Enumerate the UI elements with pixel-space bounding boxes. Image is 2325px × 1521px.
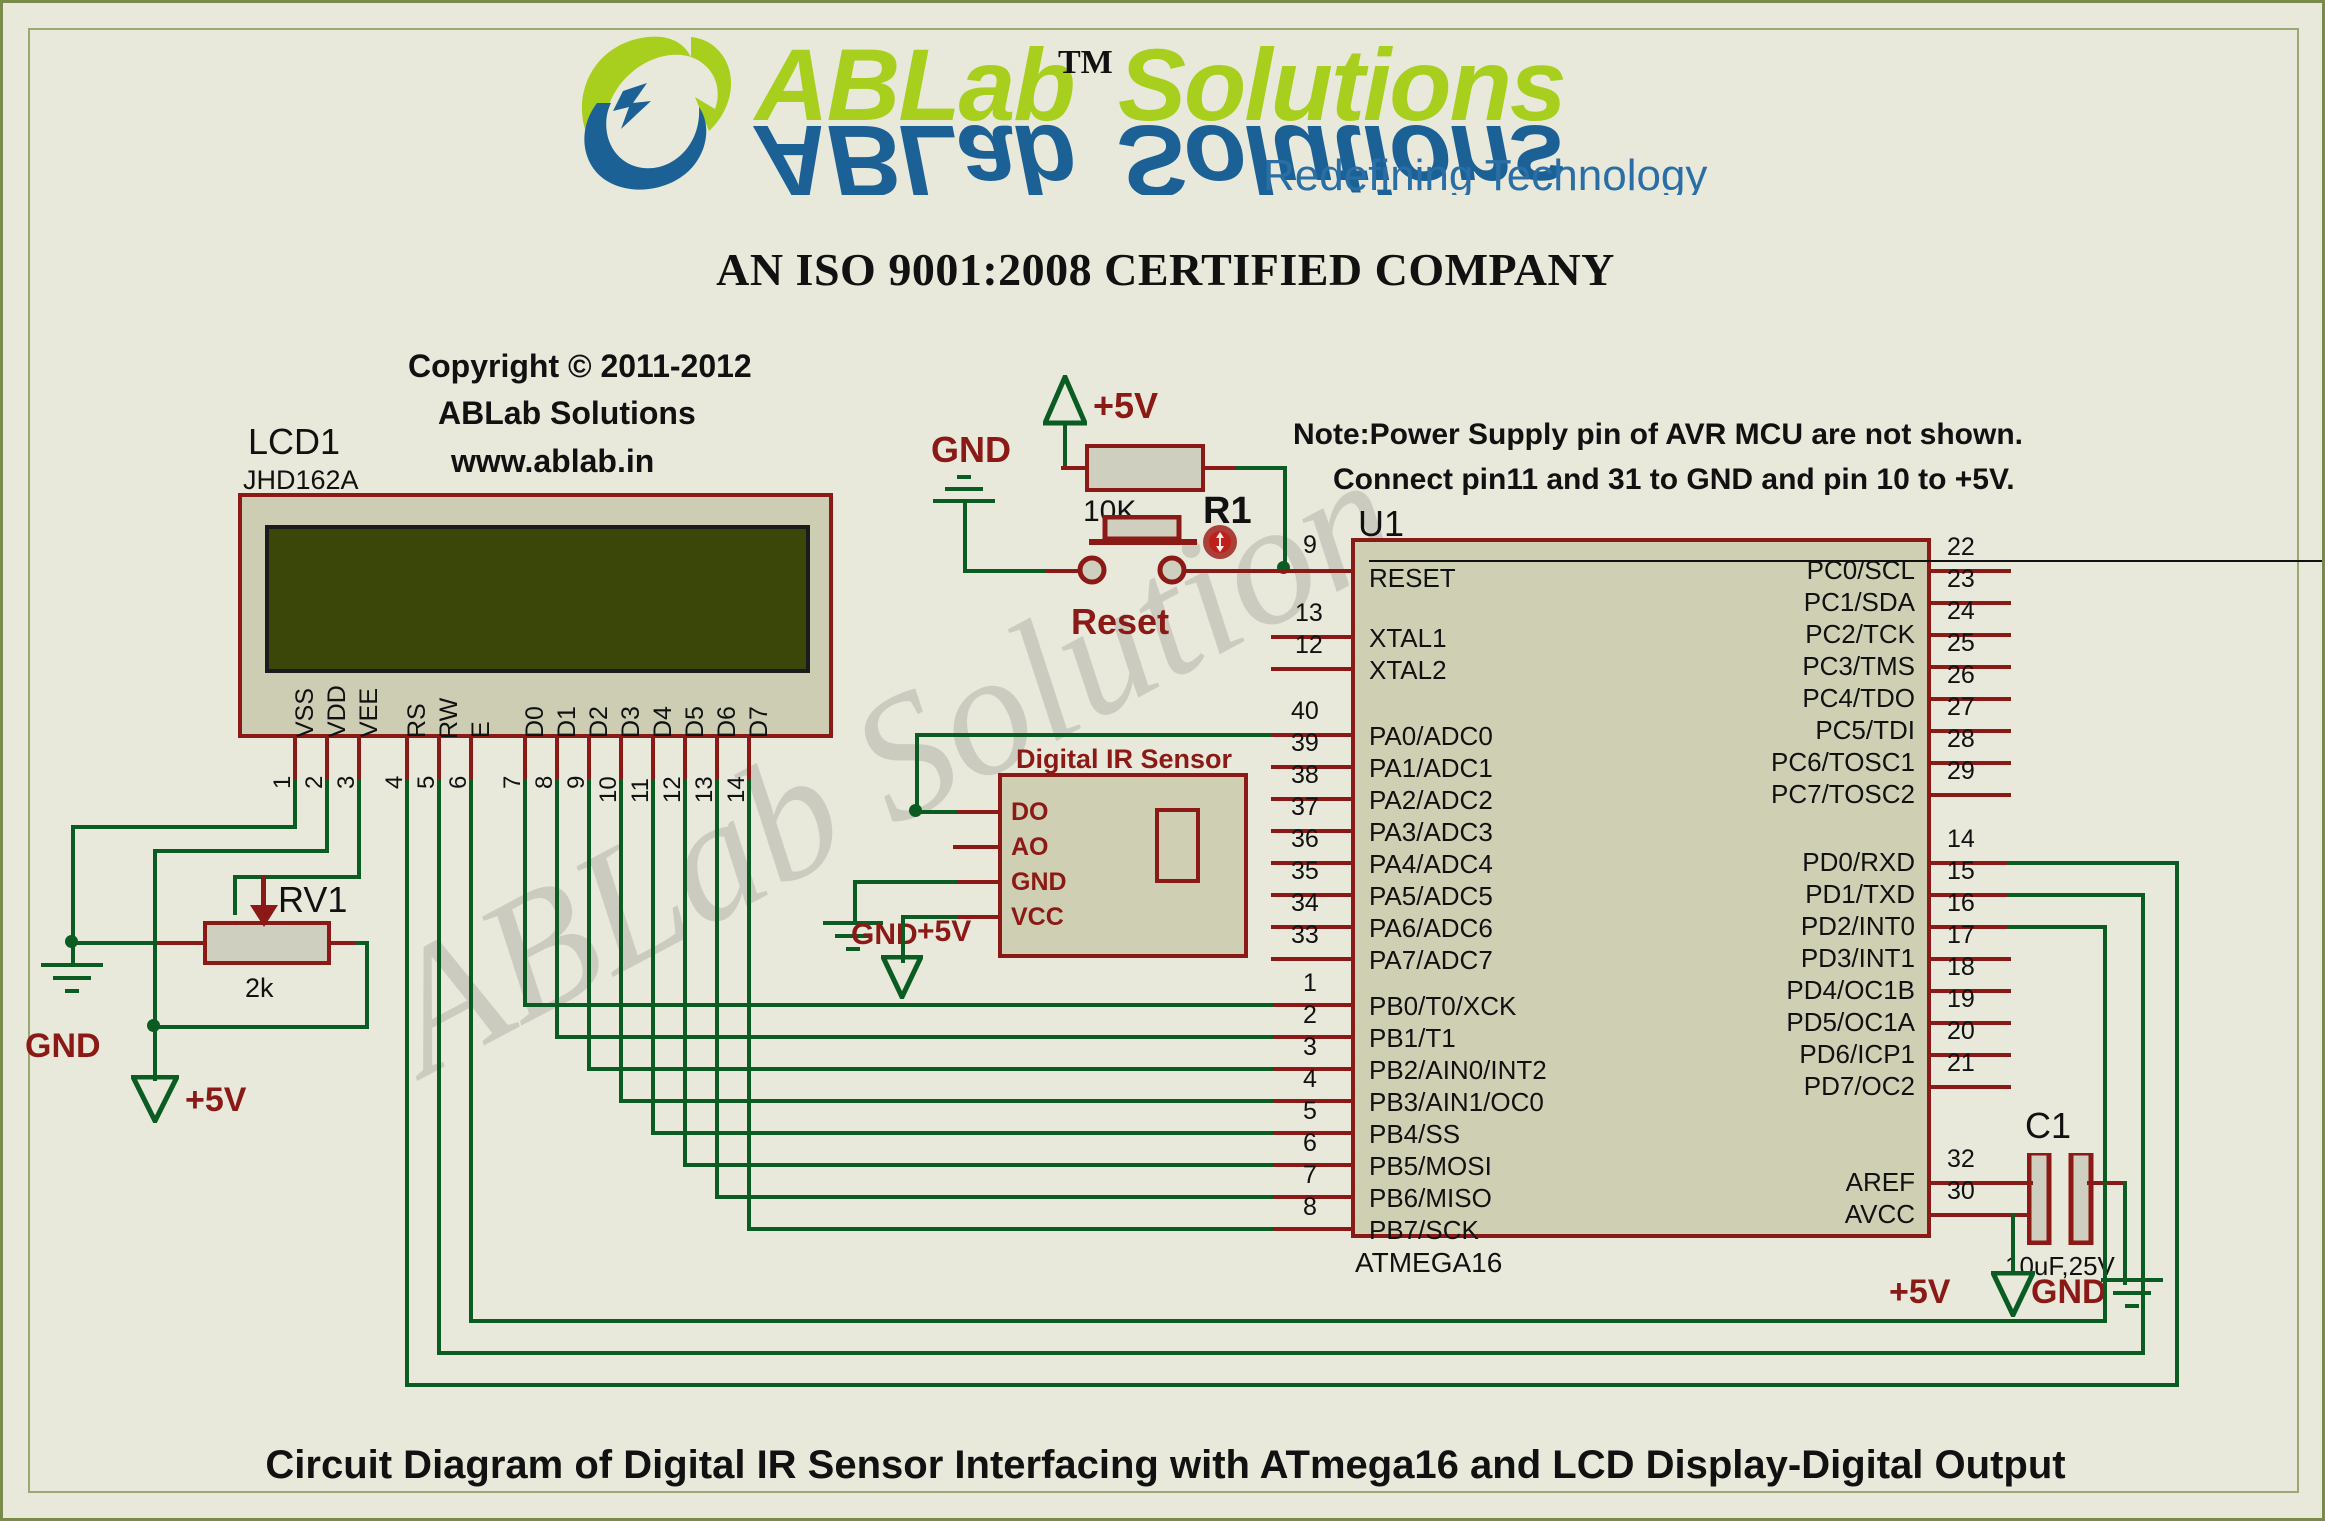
mcu-pin-line <box>1271 1227 1355 1231</box>
mcu-pin-number: 23 <box>1947 565 1975 594</box>
mcu-pin-number: 37 <box>1291 793 1319 822</box>
mcu-pin-number: 26 <box>1947 661 1975 690</box>
mcu-pin-number: 14 <box>1947 825 1975 854</box>
lcd-part-number: JHD162A <box>243 465 359 496</box>
svg-text:ABLab: ABLab <box>752 104 1074 195</box>
wire-gnd-reset-right <box>963 569 1049 573</box>
wire-vdd <box>325 779 329 853</box>
mcu-pin-label-pc0: PC0/SCL <box>1703 555 1915 586</box>
wire-lcd-rs-right-v <box>2175 861 2179 1387</box>
mcu-pin-number: 36 <box>1291 825 1319 854</box>
lcd-pin-label-d0: D0 <box>521 668 550 738</box>
mcu-pin-label-pc3: PC3/TMS <box>1703 651 1915 682</box>
wire-vdd-h <box>153 849 329 853</box>
lcd-pin-label-rs: RS <box>403 663 432 738</box>
mcu-pin-number: 18 <box>1947 953 1975 982</box>
mcu-pin-label-pd0: PD0/RXD <box>1703 847 1915 878</box>
mcu-pin-number: 4 <box>1303 1065 1317 1094</box>
ir-pin-label-do: DO <box>1011 798 1049 827</box>
mcu-pin-label-pa0: PA0/ADC0 <box>1369 721 1493 752</box>
wire-5v-down <box>153 1025 157 1081</box>
mcu-pin-label-pb6: PB6/MISO <box>1369 1183 1492 1214</box>
mcu-pin-label-pb0: PB0/T0/XCK <box>1369 991 1516 1022</box>
mcu-pin-number: 39 <box>1291 729 1319 758</box>
reset-button-actuator[interactable] <box>1089 515 1201 556</box>
mcu-pin-number: 1 <box>1303 969 1317 998</box>
mcu-pin-line <box>1927 1213 2011 1217</box>
circuit-diagram-page: ABLab ABLab TM Solutions Solutions Redef… <box>0 0 2325 1521</box>
mcu-pin-number: 40 <box>1291 697 1319 726</box>
wire-lcd-e-right-v <box>2103 925 2107 1323</box>
wire-5v-reset <box>1063 423 1067 469</box>
mcu-pin-number: 38 <box>1291 761 1319 790</box>
wire-ir-do-v <box>915 733 919 813</box>
mcu-pin-label-xtal1: XTAL1 <box>1369 623 1447 654</box>
wire-vee-v <box>233 875 237 915</box>
wire-lcd-d1-v <box>555 779 559 1039</box>
lcd-pin-label-d5: D5 <box>681 668 710 738</box>
ir-pin-stub-gnd <box>953 880 1001 884</box>
plus5v-label-c1: +5V <box>1889 1273 1950 1312</box>
mcu-pin-number: 6 <box>1303 1129 1317 1158</box>
mcu-pin-number: 8 <box>1303 1193 1317 1222</box>
c1-capacitor-body <box>2027 1153 2097 1250</box>
mcu-pin-label-pc4: PC4/TDO <box>1703 683 1915 714</box>
mcu-pin-label-pb1: PB1/T1 <box>1369 1023 1456 1054</box>
junction-node <box>65 935 78 948</box>
diagram-caption: Circuit Diagram of Digital IR Sensor Int… <box>3 1443 2325 1488</box>
wire-lcd-rw-v <box>437 779 441 1355</box>
mcu-part-number: ATMEGA16 <box>1355 1247 1502 1279</box>
wire-vee <box>357 779 361 879</box>
mcu-pin-number: 12 <box>1295 631 1323 660</box>
mcu-pin-number: 16 <box>1947 889 1975 918</box>
lcd-pin-label-d6: D6 <box>713 668 742 738</box>
wire-lcd-d5-v <box>683 779 687 1167</box>
mcu-pin-number: 15 <box>1947 857 1975 886</box>
wire-lcd-d2-v <box>587 779 591 1071</box>
mcu-pin-number: 20 <box>1947 1017 1975 1046</box>
wire-rv1-left-gnd <box>71 941 157 945</box>
mcu-pin-line <box>1927 793 2011 797</box>
lcd-pin-label-vdd: VDD <box>323 648 352 738</box>
wire-lcd-d7-v <box>747 779 751 1231</box>
wire-lcd-rw-right-v <box>2141 893 2145 1355</box>
mcu-pin-number: 32 <box>1947 1145 1975 1174</box>
junction-node-ir-do <box>909 804 922 817</box>
wire-lcd-rs-v <box>405 779 409 1387</box>
logo-tagline: Redefining Technology <box>1263 151 1707 195</box>
wire-ir-gnd-h <box>853 880 957 884</box>
mcu-pin-number: 24 <box>1947 597 1975 626</box>
mcu-pin-label-pc6: PC6/TOSC1 <box>1683 747 1915 778</box>
mcu-pin-label-pa5: PA5/ADC5 <box>1369 881 1493 912</box>
wire-btn-left <box>1045 569 1081 573</box>
mcu-pin-line <box>1271 667 1355 671</box>
mcu-pin-label-pc1: PC1/SDA <box>1703 587 1915 618</box>
gnd-label-c1: GND <box>2031 1273 2107 1312</box>
mcu-pin-label-pa6: PA6/ADC6 <box>1369 913 1493 944</box>
mcu-pin-label-pd6: PD6/ICP1 <box>1693 1039 1915 1070</box>
copyright-line-1: Copyright © 2011-2012 <box>408 348 752 385</box>
wire-avcc-down <box>2011 1213 2015 1275</box>
lcd-reference: LCD1 <box>248 421 340 463</box>
logo-tm-mark: TM <box>1058 44 1113 81</box>
lcd-pin-label-d3: D3 <box>617 668 646 738</box>
reset-button-terminal-left[interactable] <box>1077 555 1107 590</box>
wire-lcd-d4-h <box>651 1131 1273 1135</box>
mcu-pin-number: 2 <box>1303 1001 1317 1030</box>
ir-pin-label-ao: AO <box>1011 833 1049 862</box>
gnd-label-ir: GND <box>851 918 918 952</box>
mcu-pin-label-pc5: PC5/TDI <box>1703 715 1915 746</box>
mcu-pin-number: 21 <box>1947 1049 1975 1078</box>
wire-lcd-d4-v <box>651 779 655 1135</box>
lcd-pin-label-vee: VEE <box>355 648 384 738</box>
mcu-pin-number: 34 <box>1291 889 1319 918</box>
mcu-pin-label-pa3: PA3/ADC3 <box>1369 817 1493 848</box>
wire-r1-to-node <box>1235 466 1287 470</box>
lcd-pin-label-e: E <box>467 693 496 738</box>
wire-rv1-down <box>365 941 369 1029</box>
plus5v-label-ir: +5V <box>917 915 971 949</box>
plus5v-label-rv1: +5V <box>185 1081 246 1120</box>
mcu-pin-label-pd4: PD4/OC1B <box>1693 975 1915 1006</box>
mcu-pin-label-pb5: PB5/MOSI <box>1369 1151 1492 1182</box>
plus5v-symbol-c1 <box>1991 1271 2035 1322</box>
wire-lcd-d5-h <box>683 1163 1273 1167</box>
wire-lcd-d0-h <box>523 1003 1273 1007</box>
logo-swirl-icon <box>582 37 731 190</box>
plus5v-symbol-rv1 <box>131 1075 179 1128</box>
wire-c1-right <box>2087 1181 2127 1185</box>
wire-lcd-rw-to-pd1 <box>2007 893 2145 897</box>
wire-5v-bus <box>153 1025 369 1029</box>
wire-lcd-d1-h <box>555 1035 1273 1039</box>
ir-pin-label-vcc: VCC <box>1011 903 1064 932</box>
r1-resistor-body <box>1085 444 1205 492</box>
mcu-pin-label-pd1: PD1/TXD <box>1703 879 1915 910</box>
wire-lcd-e-h <box>469 1319 2107 1323</box>
wire-lcd-d6-v <box>715 779 719 1199</box>
wire-lcd-rs-to-pd0 <box>2007 861 2179 865</box>
ir-sensor-title: Digital IR Sensor <box>1016 744 1232 775</box>
mcu-pin-label-pd7: PD7/OC2 <box>1693 1071 1915 1102</box>
mcu-pin-number: 35 <box>1291 857 1319 886</box>
wire-c1-left <box>2009 1181 2033 1185</box>
mcu-pin-label-pa1: PA1/ADC1 <box>1369 753 1493 784</box>
mcu-pin-label-pc7: PC7/TOSC2 <box>1683 779 1915 810</box>
mcu-pin-number: 28 <box>1947 725 1975 754</box>
mcu-pin-label-pa7: PA7/ADC7 <box>1369 945 1493 976</box>
wire-lcd-d3-v <box>619 779 623 1103</box>
iso-certification-line: AN ISO 9001:2008 CERTIFIED COMPANY <box>3 243 2325 296</box>
lcd-pin-label-rw: RW <box>435 661 464 739</box>
mcu-pin-label-pb2: PB2/AIN0/INT2 <box>1369 1055 1547 1086</box>
mcu-pin-number: 9 <box>1303 531 1317 560</box>
mcu-pin-line <box>1271 569 1355 573</box>
lcd-pin-label-d1: D1 <box>553 668 582 738</box>
ir-sensor-element-icon <box>1155 808 1200 883</box>
mcu-pin-line <box>1271 957 1355 961</box>
mcu-pin-number: 17 <box>1947 921 1975 950</box>
wire-vdd-v <box>153 849 157 1029</box>
ir-pin-stub-ao <box>953 845 1001 849</box>
lcd-pin-label-d7: D7 <box>745 668 774 738</box>
mcu-pin-label-pd3: PD3/INT1 <box>1703 943 1915 974</box>
wire-vss-gnd <box>71 825 297 829</box>
mcu-pin-label-pa4: PA4/ADC4 <box>1369 849 1493 880</box>
plus5v-label-reset: +5V <box>1093 385 1158 427</box>
mcu-pin-label-pb4: PB4/SS <box>1369 1119 1460 1150</box>
wire-lcd-e-to-pd2 <box>2007 925 2107 929</box>
reset-button-press-indicator-icon[interactable] <box>1201 523 1239 566</box>
copyright-line-2: ABLab Solutions <box>438 395 696 432</box>
mcu-pin-number: 22 <box>1947 533 1975 562</box>
wire-lcd-rw-h <box>437 1351 2145 1355</box>
wire-vss <box>293 779 297 829</box>
mcu-pin-label-avcc: AVCC <box>1703 1199 1915 1230</box>
ir-pin-stub-do <box>953 810 1001 814</box>
wire-rv1-left <box>153 941 207 945</box>
wire-lcd-d6-h <box>715 1195 1273 1199</box>
wire-c1-right-down <box>2123 1181 2127 1285</box>
mcu-pin-label-pd5: PD5/OC1A <box>1693 1007 1915 1038</box>
gnd-symbol-c1 <box>2101 1278 2165 1329</box>
mcu-pin-label-pa2: PA2/ADC2 <box>1369 785 1493 816</box>
note-line-2: Connect pin11 and 31 to GND and pin 10 t… <box>1333 463 2015 497</box>
mcu-pin-line <box>1927 1085 2011 1089</box>
wire-gnd-reset-down <box>963 501 967 573</box>
lcd-pin-label-d4: D4 <box>649 668 678 738</box>
wire-lcd-e-v <box>469 779 473 1323</box>
reset-button-terminal-right[interactable] <box>1157 555 1187 590</box>
reset-label: Reset <box>1071 601 1169 643</box>
plus5v-symbol-ir <box>881 955 923 1004</box>
wire-lcd-d7-h <box>747 1227 1273 1231</box>
mcu-pin-label-aref: AREF <box>1703 1167 1915 1198</box>
mcu-pin-label-pb7: PB7/SCK <box>1369 1215 1479 1246</box>
wire-lcd-d2-h <box>587 1067 1273 1071</box>
gnd-symbol-lcd <box>41 963 105 1014</box>
mcu-pin-label-pb3: PB3/AIN1/OC0 <box>1369 1087 1544 1118</box>
mcu-pin-number: 29 <box>1947 757 1975 786</box>
wire-reset-vertical <box>1283 466 1287 571</box>
rv1-value: 2k <box>245 973 274 1004</box>
lcd-pin-label-vss: VSS <box>291 648 320 738</box>
c1-reference: C1 <box>2025 1105 2071 1147</box>
wire-lcd-rs-h <box>405 1383 2179 1387</box>
mcu-pin-label-xtal2: XTAL2 <box>1369 655 1447 686</box>
mcu-pin-number: 13 <box>1295 599 1323 628</box>
copyright-line-3: www.ablab.in <box>451 443 654 480</box>
mcu-pin-number: 19 <box>1947 985 1975 1014</box>
ir-pin-label-gnd: GND <box>1011 868 1067 897</box>
mcu-pin-number: 27 <box>1947 693 1975 722</box>
mcu-pin-number: 3 <box>1303 1033 1317 1062</box>
mcu-pin-number: 7 <box>1303 1161 1317 1190</box>
mcu-pin-number: 33 <box>1291 921 1319 950</box>
mcu-pin-number: 25 <box>1947 629 1975 658</box>
wire-r1-right <box>1203 466 1239 470</box>
mcu-pin-label-pd2: PD2/INT0 <box>1703 911 1915 942</box>
wire-btn-right <box>1185 569 1285 573</box>
gnd-label-reset: GND <box>931 429 1011 471</box>
ablab-logo: ABLab ABLab TM Solutions Solutions Redef… <box>563 25 1853 195</box>
mcu-pin-number: 5 <box>1303 1097 1317 1126</box>
mcu-pin-label-pc2: PC2/TCK <box>1703 619 1915 650</box>
wire-r1-left <box>1061 466 1089 470</box>
rv1-reference: RV1 <box>278 879 347 921</box>
lcd-pin-label-d2: D2 <box>585 668 614 738</box>
wire-lcd-d0-v <box>523 779 527 1007</box>
mcu-pin-number: 30 <box>1947 1177 1975 1206</box>
note-line-1: Note:Power Supply pin of AVR MCU are not… <box>1293 418 2023 452</box>
gnd-label-lcd: GND <box>25 1027 101 1066</box>
rv1-wiper-arrow-icon <box>246 875 282 932</box>
